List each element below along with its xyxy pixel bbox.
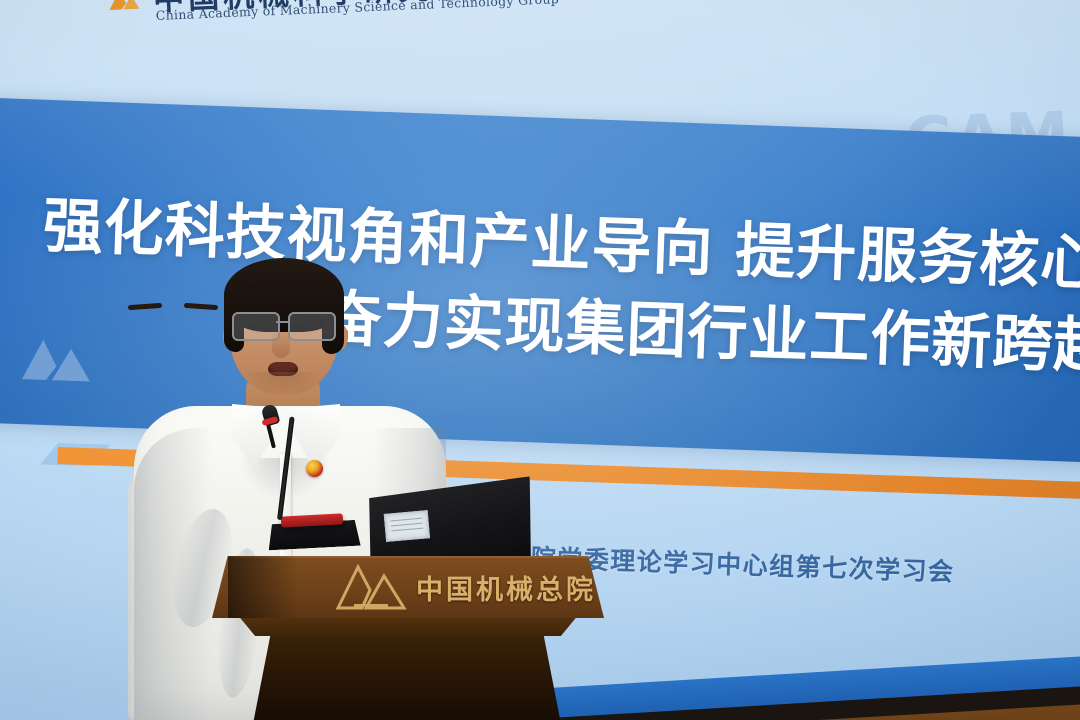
speaker-chin-shadow — [244, 372, 322, 392]
podium-face: 中国机械总院 — [212, 556, 604, 618]
communist-party-emblem-pin-icon — [306, 460, 323, 477]
presentation-photo: CAM 中国机械科学研究总院集团 China Academy of Machin… — [0, 0, 1080, 720]
podium-face-shadow — [228, 556, 298, 618]
cam-triangle-emblem-icon — [336, 564, 408, 610]
laptop-white-sticker — [384, 510, 430, 542]
band-decorative-glyph-icon — [22, 335, 98, 384]
wooden-podium: 中国机械总院 — [196, 556, 614, 720]
podium-engraved-text: 中国机械总院 — [416, 568, 596, 607]
speaker-nose — [272, 332, 290, 358]
eyeglass-lens-right — [288, 312, 336, 341]
podium-body — [252, 634, 562, 720]
cam-orange-mark-icon — [109, 0, 144, 12]
speaker-eyebrow-right — [184, 303, 218, 310]
speaker-eyebrow-left — [128, 303, 162, 310]
